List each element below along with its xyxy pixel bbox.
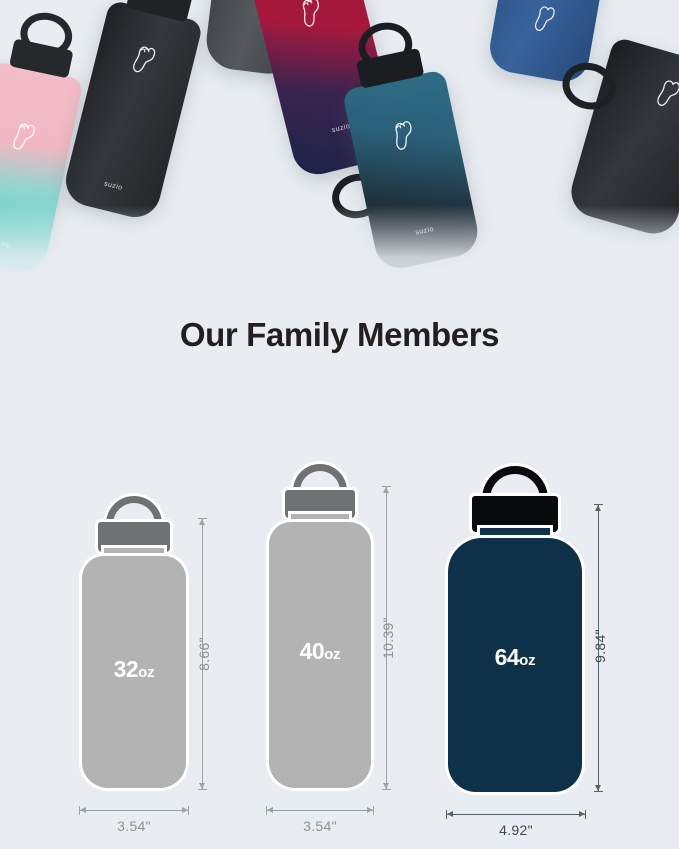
width-dimension-label-32oz: 3.54" [74,818,194,834]
height-dimension-label-64oz: 9.84" [592,620,608,672]
suzio-bird-logo [650,74,679,115]
hero-photo-band: suzio suzio suzio suzio [0,0,679,300]
width-dimension-line-64oz [446,814,586,815]
bottle-cap [126,0,193,22]
capacity-unit: oz [519,652,535,669]
arrow-down-icon [383,783,389,789]
bottle-spec-40oz: 40oz 10.39" 3.54" [260,458,440,830]
arrow-left-icon [80,807,86,813]
bottle-cap-band [472,496,558,532]
capacity-number: 64 [495,644,520,670]
arrow-right-icon [367,807,373,813]
brand-text: suzio [415,226,435,237]
arrow-left-icon [267,807,273,813]
brand-text: suzio [103,181,123,192]
photo-bottle-black-left: suzio [61,0,204,223]
arrow-right-icon [182,807,188,813]
bottle-spec-64oz: 64oz 9.84" 4.92" [440,462,640,830]
width-dimension-line-40oz [266,810,374,811]
brand-text: suzio [0,239,12,250]
arrow-up-icon [595,505,601,511]
capacity-unit: oz [138,664,154,681]
arrow-right-icon [579,811,585,817]
width-dimension-label-40oz: 3.54" [260,818,380,834]
bottle-spec-32oz: 32oz 8.66" 3.54" [74,490,254,830]
suzio-bird-logo [294,0,331,33]
size-comparison-diagram: 32oz 8.66" 3.54" 40oz [0,430,679,849]
arrow-down-icon [595,785,601,791]
bottle-capacity-label: 64oz [495,646,536,669]
bottle-40oz-drawing: 40oz [260,458,380,790]
photo-bottle-black-right [565,36,679,239]
suzio-bird-logo [6,118,42,157]
bottle-capacity-label: 40oz [300,640,341,663]
bottle-32oz-drawing: 32oz [74,490,194,790]
arrow-up-icon [383,487,389,493]
width-dimension-line-32oz [79,810,189,811]
capacity-number: 40 [300,638,325,664]
page-title: Our Family Members [0,316,679,354]
height-dimension-label-32oz: 8.66" [196,630,212,678]
capacity-number: 32 [114,656,139,682]
arrow-up-icon [199,519,205,525]
arrow-down-icon [199,783,205,789]
bottle-capacity-label: 32oz [114,658,155,681]
bottle-64oz-drawing: 64oz [440,462,590,794]
suzio-bird-logo [126,40,163,80]
width-dimension-label-64oz: 4.92" [456,822,576,838]
height-dimension-label-40oz: 10.39" [380,608,396,668]
suzio-bird-logo [529,1,562,37]
photo-bottle-teal-black: suzio [342,69,482,273]
arrow-left-icon [447,811,453,817]
suzio-bird-logo [386,116,422,155]
capacity-unit: oz [324,646,340,663]
